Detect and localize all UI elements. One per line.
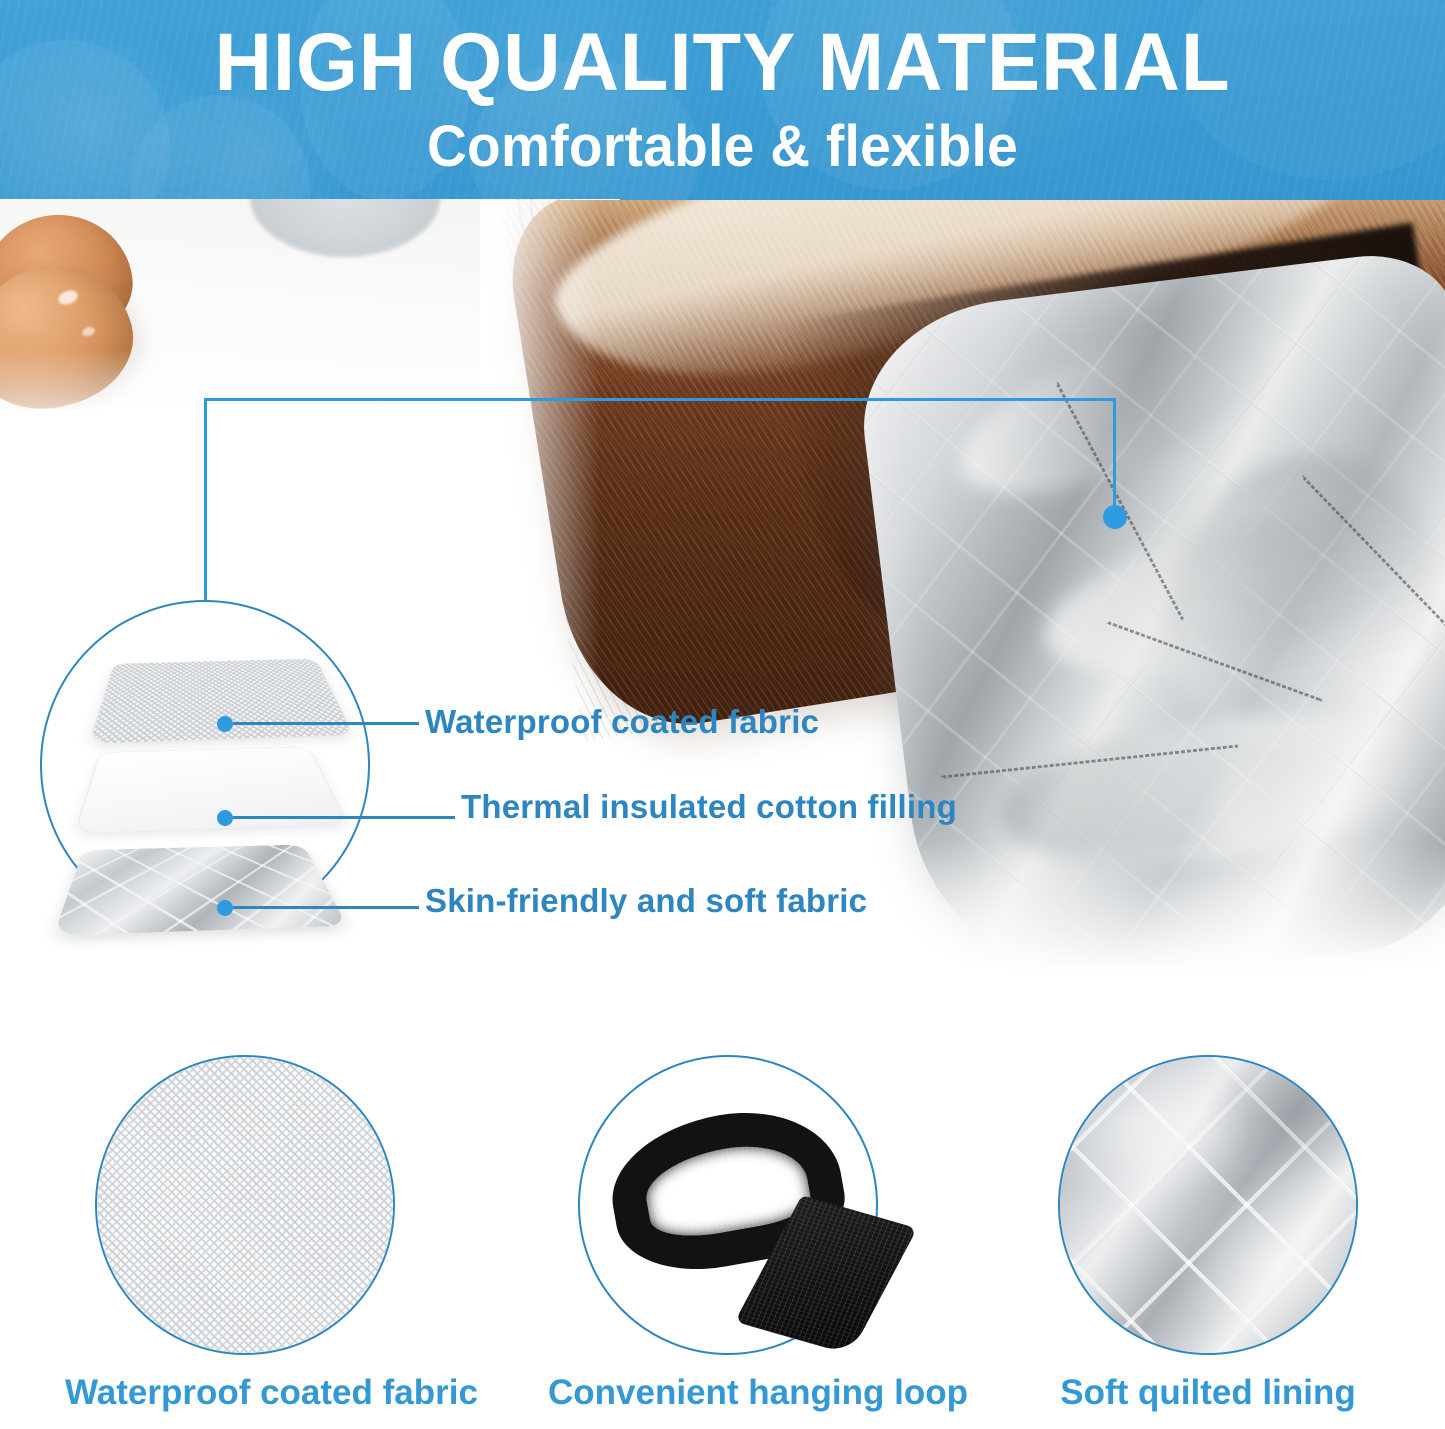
feature-circle-quilted-lining [1058,1055,1358,1355]
leader-line-soft-fabric [233,906,419,909]
leader-dot-waterproof [217,716,233,732]
feature-circle-woven-fabric [95,1055,395,1355]
mixing-bowl [250,199,440,257]
swatch-quilt-pattern [53,845,347,936]
feature-circle-hanging-loop [578,1055,878,1355]
product-photo [480,200,1445,990]
feature-label-soft-quilted-lining: Soft quilted lining [1028,1373,1388,1413]
leader-dot-thermal-filling [217,810,233,826]
thermal-insulated-cotton-filling-swatch [73,747,349,834]
skin-friendly-soft-fabric-swatch [53,845,347,936]
connector-line-vertical-right [1113,398,1116,514]
callout-label-skin-friendly-soft-fabric: Skin-friendly and soft fabric [425,882,867,920]
feature-label-waterproof-coated-fabric: Waterproof coated fabric [65,1373,425,1413]
banner-subtitle: Comfortable & flexible [36,112,1409,182]
feature-waterproof-coated-fabric: Waterproof coated fabric [95,1055,395,1355]
banner-title: HIGH QUALITY MATERIAL [22,16,1424,110]
header-banner: HIGH QUALITY MATERIAL Comfortable & flex… [0,0,1445,201]
feature-soft-quilted-lining: Soft quilted lining [1058,1055,1358,1355]
quilt-sheen [1058,1055,1358,1355]
leader-line-thermal-filling [233,816,455,819]
callout-label-waterproof-coated-fabric: Waterproof coated fabric [425,703,819,741]
connector-line-vertical-left [204,398,207,602]
leader-line-waterproof [233,722,419,725]
photo-left-fade [480,200,600,990]
hanging-loop-strap-icon [570,1085,900,1335]
layer-diagram-circle [40,600,370,930]
woven-fabric-texture-icon [95,1055,395,1355]
connector-endpoint-dot [1103,505,1127,529]
feature-convenient-hanging-loop: Convenient hanging loop [578,1055,878,1355]
callout-label-thermal-insulated-cotton-filling: Thermal insulated cotton filling [461,788,957,826]
leader-dot-soft-fabric [217,900,233,916]
connector-line-horizontal [204,398,1116,401]
feature-label-convenient-hanging-loop: Convenient hanging loop [548,1373,908,1413]
